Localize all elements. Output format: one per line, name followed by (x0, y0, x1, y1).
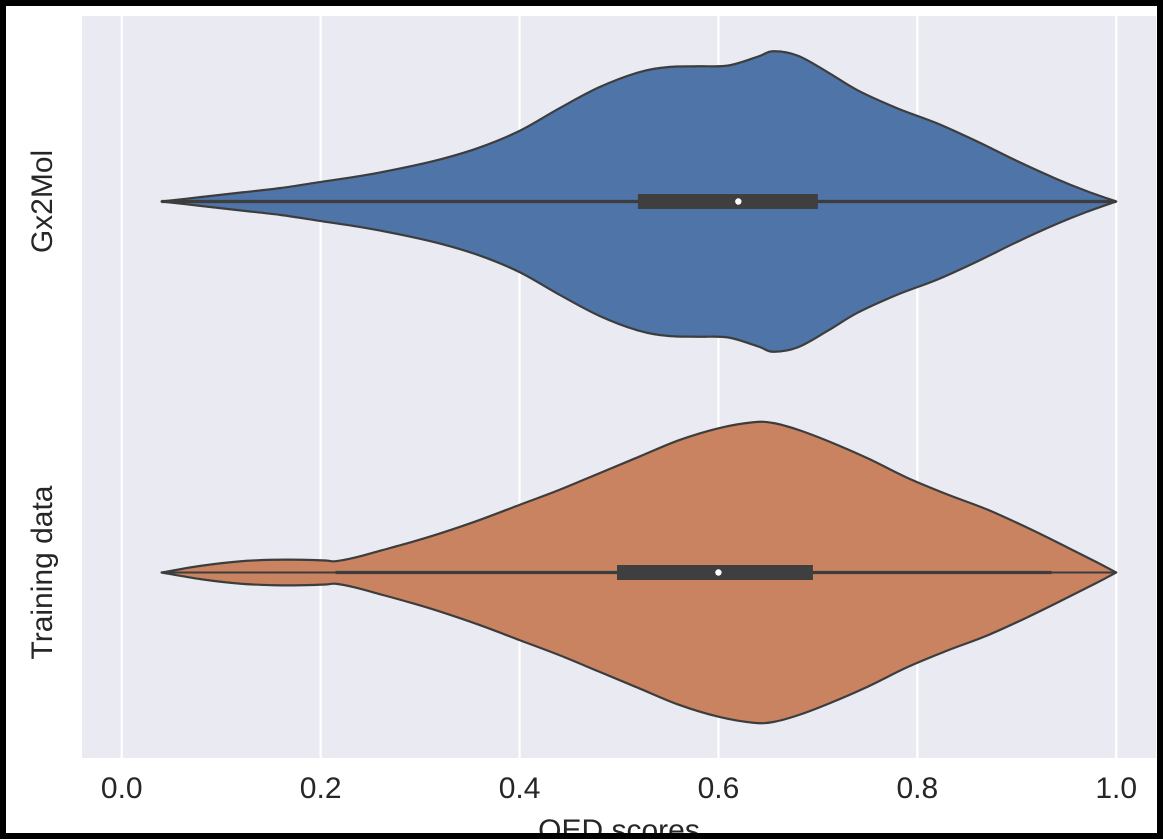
y-tick-label-training-data: Training data (26, 485, 59, 659)
y-axis-ticks: Gx2MolTraining data (26, 150, 59, 660)
x-axis-title: QED scores (538, 814, 700, 839)
x-tick-label-0.4: 0.4 (499, 772, 541, 805)
x-tick-label-0.0: 0.0 (101, 772, 143, 805)
median-marker (715, 569, 721, 575)
x-tick-label-0.2: 0.2 (300, 772, 342, 805)
x-tick-label-0.8: 0.8 (896, 772, 938, 805)
x-tick-label-0.6: 0.6 (698, 772, 740, 805)
violin-plot-figure: 0.00.20.40.60.81.0QED scoresGx2MolTraini… (0, 0, 1163, 839)
median-marker (735, 198, 741, 204)
y-tick-label-gx2mol: Gx2Mol (26, 150, 59, 253)
plot-canvas: 0.00.20.40.60.81.0QED scoresGx2MolTraini… (6, 6, 1163, 839)
x-tick-label-1.0: 1.0 (1095, 772, 1137, 805)
x-axis-ticks: 0.00.20.40.60.81.0 (101, 772, 1137, 805)
